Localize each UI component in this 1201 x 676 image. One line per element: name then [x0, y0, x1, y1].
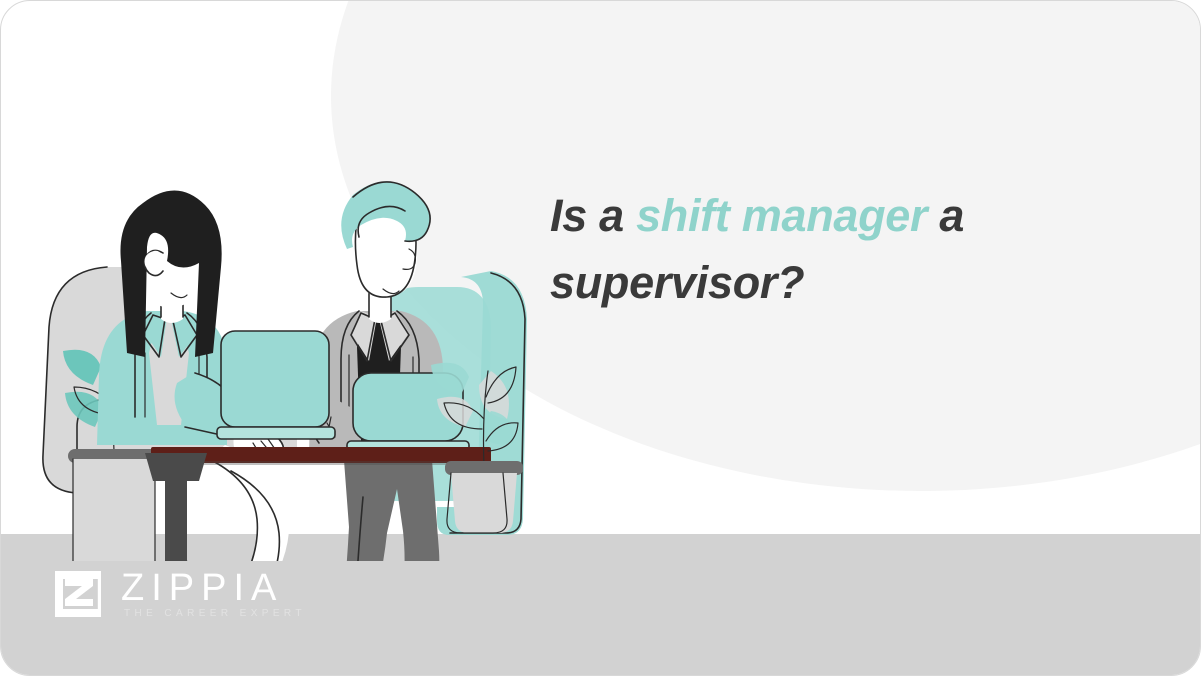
illustration: .ln { fill:none; stroke:#2b2b2b; stroke-…	[21, 141, 541, 561]
logo-tagline: THE CAREER EXPERT	[121, 609, 306, 619]
zippia-logo[interactable]: ZIPPIA THE CAREER EXPERT	[53, 569, 306, 619]
headline: Is a shift manager a supervisor?	[550, 183, 1150, 316]
logo-text: ZIPPIA THE CAREER EXPERT	[121, 569, 306, 619]
headline-accent: shift manager	[636, 190, 927, 241]
logo-wordmark: ZIPPIA	[121, 569, 306, 607]
headline-part-before: Is a	[550, 190, 636, 241]
laptop-left	[217, 331, 335, 439]
promo-card: .ln { fill:none; stroke:#2b2b2b; stroke-…	[0, 0, 1201, 676]
zippia-z-mark	[53, 569, 103, 619]
